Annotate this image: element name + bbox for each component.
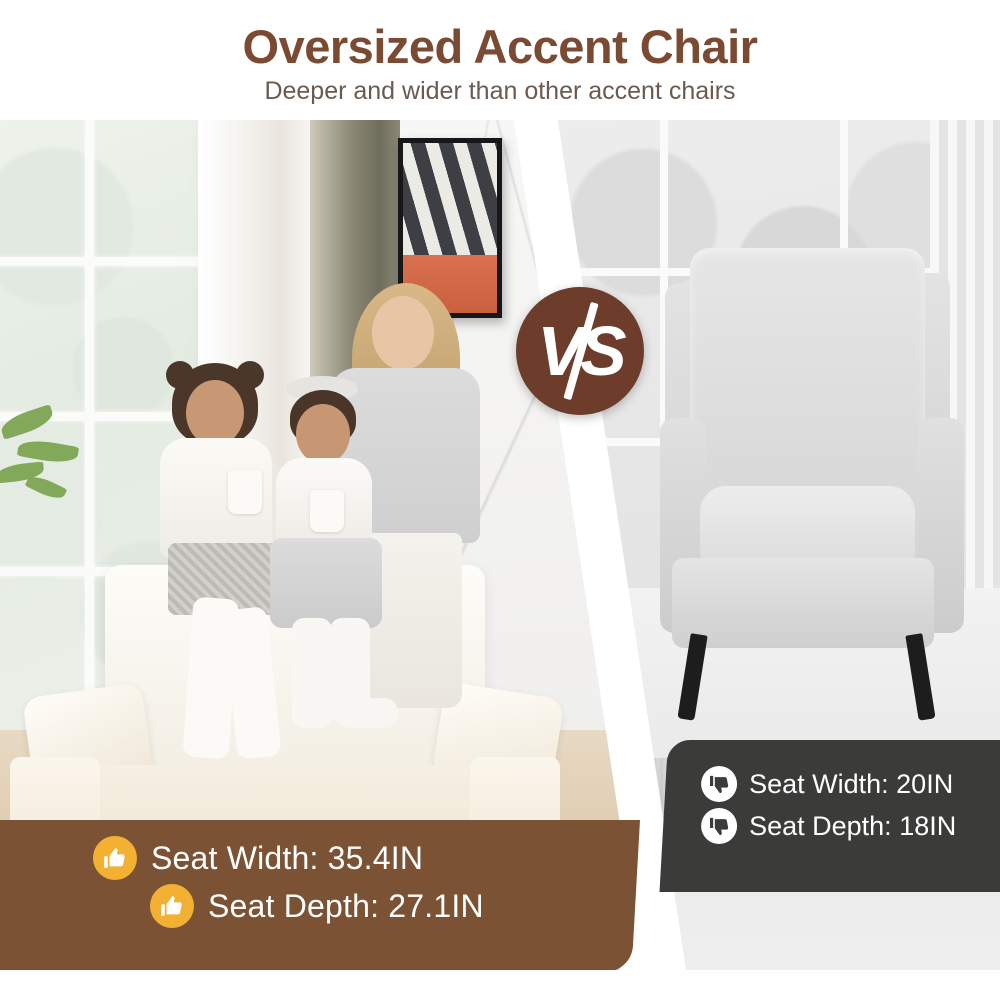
bad-spec-row: Seat Depth: 18IN bbox=[701, 808, 1000, 844]
product-comparison-image: Oversized Accent Chair Deeper and wider … bbox=[0, 0, 1000, 1000]
thumbs-up-icon bbox=[150, 884, 194, 928]
plant-leaf-icon bbox=[25, 472, 68, 503]
bad-spec-label: Seat Width: 20IN bbox=[749, 769, 953, 800]
mug-icon bbox=[310, 490, 344, 532]
plant-leaf-icon bbox=[17, 437, 79, 466]
good-spec-row: Seat Depth: 27.1IN bbox=[150, 884, 637, 928]
vs-badge-icon: VS bbox=[516, 287, 644, 415]
mug-icon bbox=[228, 470, 262, 514]
good-spec-label: Seat Depth: 27.1IN bbox=[208, 888, 484, 925]
good-specs-banner: Seat Width: 35.4IN Seat Depth: 27.1IN bbox=[0, 820, 640, 972]
thumbs-down-icon bbox=[701, 808, 737, 844]
chair-seat-cushion bbox=[672, 558, 934, 648]
bad-spec-label: Seat Depth: 18IN bbox=[749, 811, 956, 842]
bottom-white-strip bbox=[0, 970, 1000, 1000]
bad-specs-banner: Seat Width: 20IN Seat Depth: 18IN bbox=[660, 740, 1000, 892]
page-subtitle: Deeper and wider than other accent chair… bbox=[0, 71, 1000, 106]
good-spec-row: Seat Width: 35.4IN bbox=[93, 836, 637, 880]
thumbs-down-icon bbox=[701, 766, 737, 802]
good-spec-label: Seat Width: 35.4IN bbox=[151, 840, 423, 877]
bad-spec-row: Seat Width: 20IN bbox=[701, 766, 1000, 802]
page-title: Oversized Accent Chair bbox=[0, 0, 1000, 71]
header: Oversized Accent Chair Deeper and wider … bbox=[0, 0, 1000, 120]
plant-leaf-icon bbox=[0, 404, 56, 440]
thumbs-up-icon bbox=[93, 836, 137, 880]
